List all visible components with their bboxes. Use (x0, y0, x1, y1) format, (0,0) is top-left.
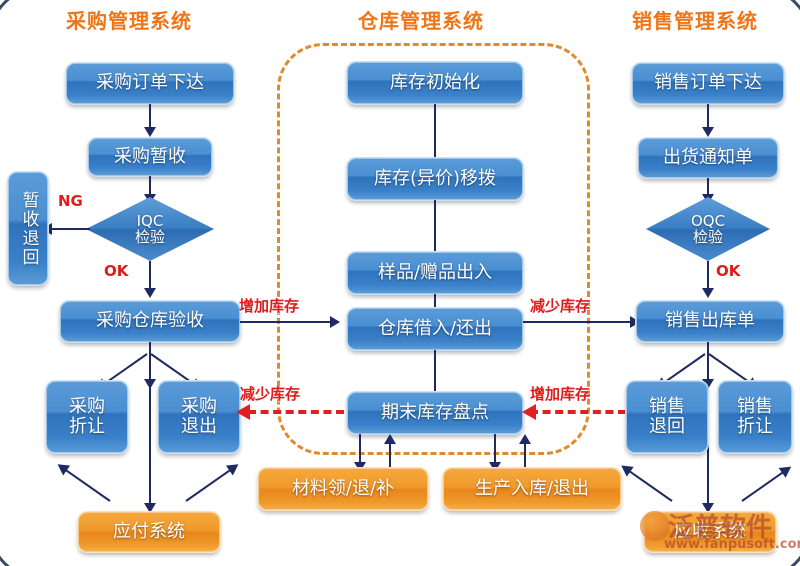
node-return-provisional-receipt[interactable]: 暂收退回 (8, 172, 48, 285)
decision-iqc[interactable]: IQC 检验 (86, 197, 214, 261)
arrowhead-sales-order-to-notice (702, 127, 714, 137)
connector-transfer-to-sample (434, 200, 436, 252)
decision-iqc-label: IQC 检验 (135, 213, 165, 246)
red-connector-decrease-stock-left (248, 410, 344, 414)
connector-receivable-to-sales-return (622, 466, 672, 502)
node-payable-system[interactable]: 应付系统 (78, 512, 220, 552)
node-purchase-provisional-receipt[interactable]: 采购暂收 (88, 138, 212, 176)
node-warehouse-borrow-return[interactable]: 仓库借入/还出 (347, 308, 523, 350)
node-shipping-notice[interactable]: 出货通知单 (638, 138, 778, 178)
red-connector-increase-stock-right (530, 410, 626, 414)
connector-payable-to-returnout (185, 465, 237, 502)
node-inventory-init[interactable]: 库存初始化 (347, 62, 523, 104)
node-sample-gift[interactable]: 样品/赠品出入 (347, 252, 523, 294)
edge-label-iqc-ng: NG (58, 192, 83, 210)
edge-label-increase-stock-right: 增加库存 (530, 383, 590, 404)
column-title-sales: 销售管理系统 (632, 5, 758, 34)
connector-borrow-to-sales-out (523, 321, 636, 323)
decision-oqc-label: OQC 检验 (691, 213, 725, 246)
edge-label-decrease-stock-right: 减少库存 (530, 295, 590, 316)
arrowhead-production-to-count (519, 434, 531, 444)
column-title-warehouse: 仓库管理系统 (358, 5, 484, 34)
node-inventory-transfer[interactable]: 库存(异价)移拨 (347, 158, 523, 200)
arrowhead-iqc-to-acceptance (144, 288, 156, 298)
connector-receivable-to-sales-discount (741, 467, 790, 502)
column-title-purchasing: 采购管理系统 (66, 5, 192, 34)
edge-label-iqc-ok: OK (104, 262, 128, 280)
connector-sample-to-borrow (434, 294, 436, 308)
connector-acceptance-to-borrow (240, 321, 335, 323)
edge-label-increase-stock-left: 增加库存 (239, 295, 299, 316)
arrowhead-acceptance-to-borrow (330, 316, 340, 328)
node-purchase-discount[interactable]: 采购 折让 (46, 381, 128, 453)
node-sales-return[interactable]: 销售 退回 (626, 381, 708, 453)
node-sales-order[interactable]: 销售订单下达 (632, 63, 784, 104)
node-sales-delivery-note[interactable]: 销售出库单 (636, 301, 784, 342)
flowchart-canvas: 采购管理系统 仓库管理系统 销售管理系统 采购订单下达 采购暂收 IQC 检验 … (0, 0, 800, 566)
node-production-in-out[interactable]: 生产入库/退出 (443, 468, 621, 510)
node-purchase-order[interactable]: 采购订单下达 (66, 63, 234, 104)
arrowhead-order-to-receipt (144, 127, 156, 137)
connector-borrow-to-count (434, 350, 436, 394)
node-sales-discount[interactable]: 销售 折让 (718, 381, 792, 453)
decision-oqc[interactable]: OQC 检验 (646, 197, 770, 261)
node-material-issue-return[interactable]: 材料领/退/补 (258, 468, 428, 510)
node-receivable-system[interactable]: 应收系统 (644, 512, 776, 552)
arrowhead-decrease-stock-left (236, 404, 250, 420)
connector-payable-to-discount (59, 465, 111, 502)
arrowhead-material-to-count (384, 434, 396, 444)
edge-label-decrease-stock-left: 减少库存 (240, 383, 300, 404)
connector-iqc-to-return (48, 228, 90, 230)
connector-init-to-transfer (434, 104, 436, 158)
arrowhead-acceptance-down (144, 379, 156, 389)
edge-label-oqc-ok: OK (716, 262, 740, 280)
arrowhead-increase-stock-right (522, 404, 536, 420)
arrowhead-oqc-to-delivery (702, 288, 714, 298)
node-purchase-warehouse-acceptance[interactable]: 采购仓库验收 (60, 301, 240, 342)
node-purchase-return-out[interactable]: 采购 退出 (158, 381, 240, 453)
node-period-end-count[interactable]: 期末库存盘点 (347, 392, 523, 434)
